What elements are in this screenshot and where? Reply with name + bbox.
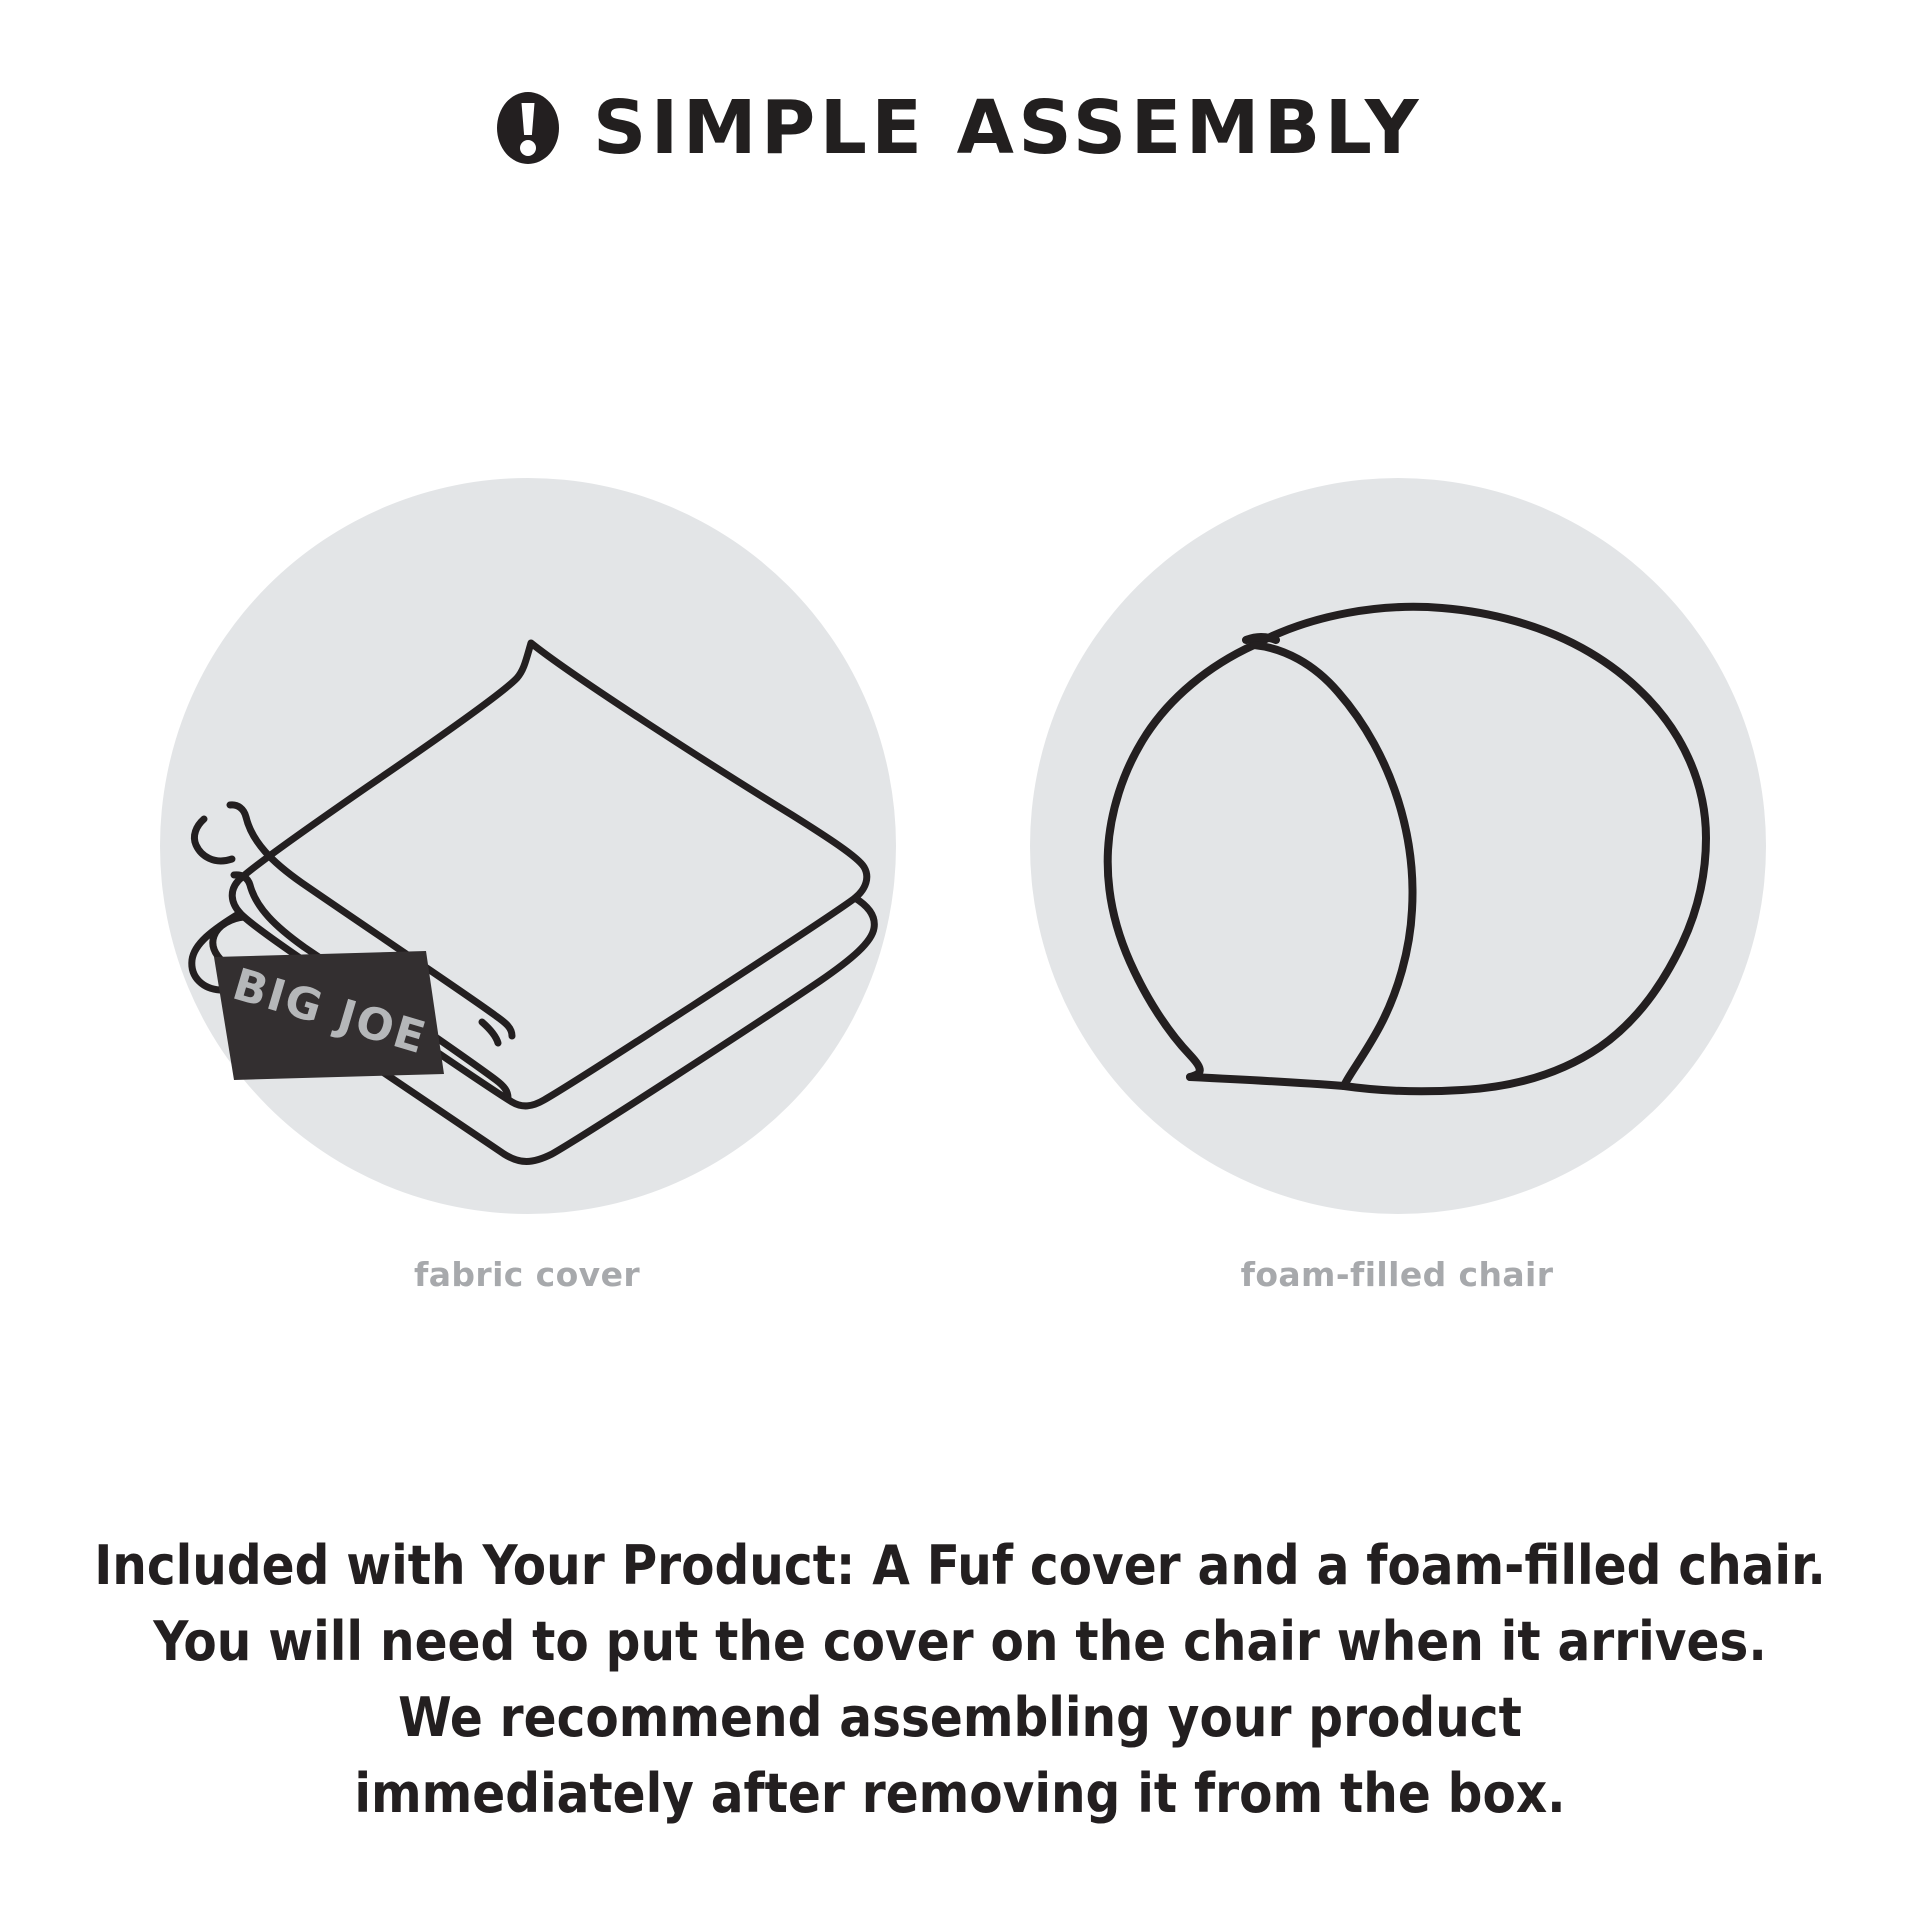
caption-foam-filled-chair: foam-filled chair <box>1022 1258 1772 1291</box>
footer-line-2: You will need to put the cover on the ch… <box>0 1604 1920 1680</box>
footer-line-1: Included with Your Product: A Fuf cover … <box>0 1528 1920 1604</box>
footer-line-3: We recommend assembling your product <box>0 1680 1920 1756</box>
big-joe-tag: BIG JOE <box>214 951 444 1080</box>
exclamation-circle-icon <box>497 90 559 166</box>
disc-background-right <box>1030 478 1766 1214</box>
big-joe-tag-label: BIG JOE <box>227 959 432 1064</box>
footer-paragraph: Included with Your Product: A Fuf cover … <box>0 1528 1920 1832</box>
footer-line-4: immediately after removing it from the b… <box>0 1756 1920 1832</box>
caption-fabric-cover: fabric cover <box>152 1258 902 1291</box>
panel-foam-filled-chair <box>1022 470 1772 1230</box>
foam-filled-chair-illustration <box>1022 470 1772 1230</box>
panel-fabric-cover: BIG JOE BIG JOE <box>152 470 902 1230</box>
page-title: SIMPLE ASSEMBLY <box>593 91 1423 165</box>
disc-background-left <box>160 478 896 1214</box>
folded-fabric-cover-illustration: BIG JOE <box>152 470 902 1230</box>
big-joe-tag-text: BIG JOE <box>152 470 153 471</box>
page-header: SIMPLE ASSEMBLY <box>0 0 1920 300</box>
header-inner: SIMPLE ASSEMBLY <box>497 90 1423 166</box>
